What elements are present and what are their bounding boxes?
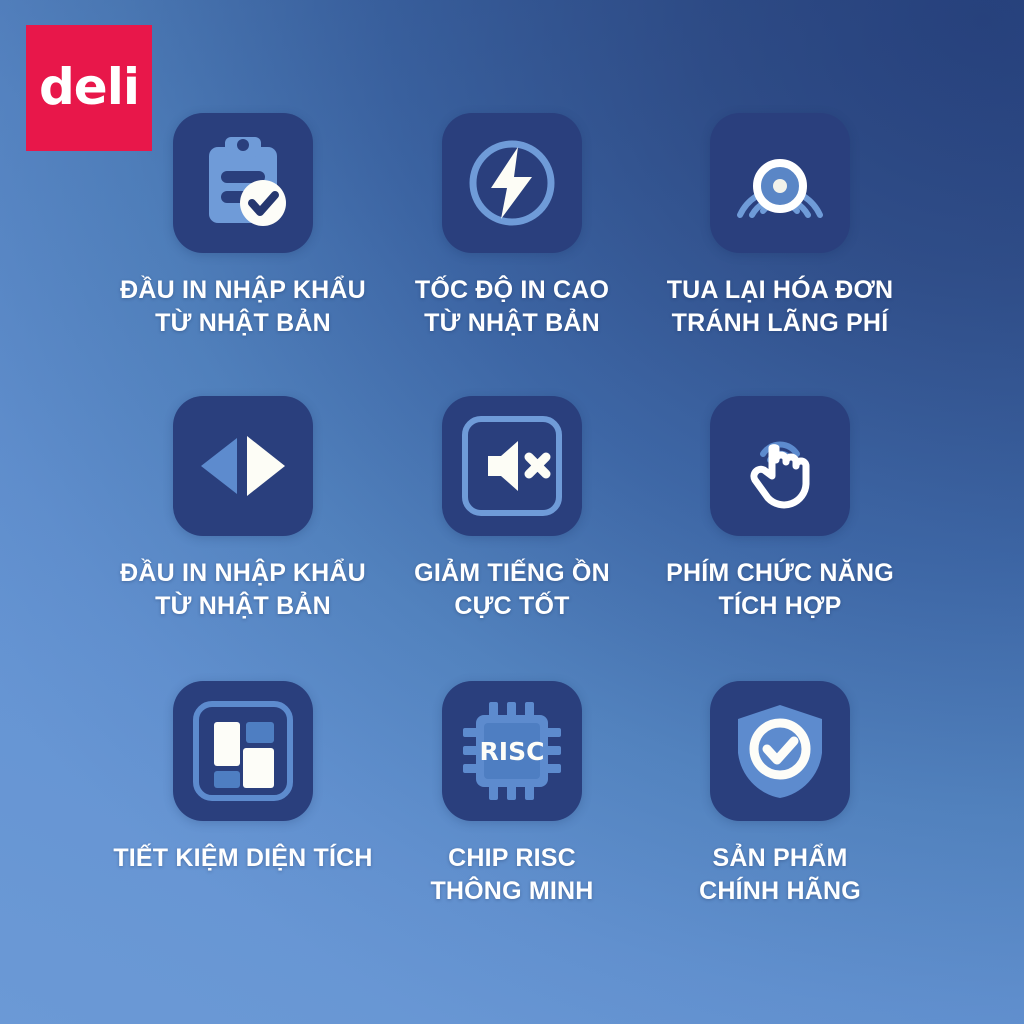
tap-hand-icon <box>728 414 832 518</box>
feature-caption-5: GIẢM TIẾNG ỒN CỰC TỐT <box>362 557 662 622</box>
feature-caption-8: CHIP RISC THÔNG MINH <box>362 842 662 907</box>
feature-icon-tile-2 <box>442 113 582 253</box>
shield-check-icon <box>728 699 832 803</box>
mute-speaker-icon <box>456 410 568 522</box>
feature-caption-2: TỐC ĐỘ IN CAO TỪ NHẬT BẢN <box>362 274 662 339</box>
feature-caption-7: TIẾT KIỆM DIỆN TÍCH <box>93 842 393 875</box>
feature-card-6: PHÍM CHỨC NĂNG TÍCH HỢP <box>630 396 930 622</box>
feature-icon-tile-4 <box>173 396 313 536</box>
feature-card-2: TỐC ĐỘ IN CAO TỪ NHẬT BẢN <box>362 113 662 339</box>
deli-logo-wordmark: deli <box>39 62 139 112</box>
feature-caption-1: ĐẦU IN NHẬP KHẨU TỪ NHẬT BẢN <box>93 274 393 339</box>
lightning-bolt-icon <box>460 131 564 235</box>
feature-icon-tile-6 <box>710 396 850 536</box>
feature-caption-9: SẢN PHẨM CHÍNH HÃNG <box>630 842 930 907</box>
feature-caption-3: TUA LẠI HÓA ĐƠN TRÁNH LÃNG PHÍ <box>630 274 930 339</box>
infographic-page: deli ĐẦU IN NHẬP KHẨU TỪ NHẬT B <box>0 0 1024 1024</box>
clipboard-check-icon <box>191 131 295 235</box>
feature-icon-tile-9 <box>710 681 850 821</box>
feature-icon-tile-5 <box>442 396 582 536</box>
paper-roll-signal-icon <box>728 131 832 235</box>
feature-card-9: SẢN PHẨM CHÍNH HÃNG <box>630 681 930 907</box>
feature-caption-6: PHÍM CHỨC NĂNG TÍCH HỢP <box>630 557 930 622</box>
feature-card-5: GIẢM TIẾNG ỒN CỰC TỐT <box>362 396 662 622</box>
feature-icon-tile-3 <box>710 113 850 253</box>
feature-card-4: ĐẦU IN NHẬP KHẨU TỪ NHẬT BẢN <box>93 396 393 622</box>
feature-grid: ĐẦU IN NHẬP KHẨU TỪ NHẬT BẢN TỐC ĐỘ IN C… <box>0 0 1024 1024</box>
deli-logo: deli <box>26 25 152 151</box>
feature-icon-tile-7 <box>173 681 313 821</box>
feature-card-8: RISC CHIP RISC THÔNG MINH <box>362 681 662 907</box>
feature-card-7: TIẾT KIỆM DIỆN TÍCH <box>93 681 393 875</box>
feature-icon-tile-1 <box>173 113 313 253</box>
feature-caption-4: ĐẦU IN NHẬP KHẨU TỪ NHẬT BẢN <box>93 557 393 622</box>
risc-chip-icon: RISC <box>457 696 567 806</box>
bidirectional-arrows-icon <box>191 414 295 518</box>
layout-grid-icon <box>187 695 299 807</box>
feature-icon-tile-8: RISC <box>442 681 582 821</box>
risc-chip-label: RISC <box>480 737 545 766</box>
feature-card-3: TUA LẠI HÓA ĐƠN TRÁNH LÃNG PHÍ <box>630 113 930 339</box>
